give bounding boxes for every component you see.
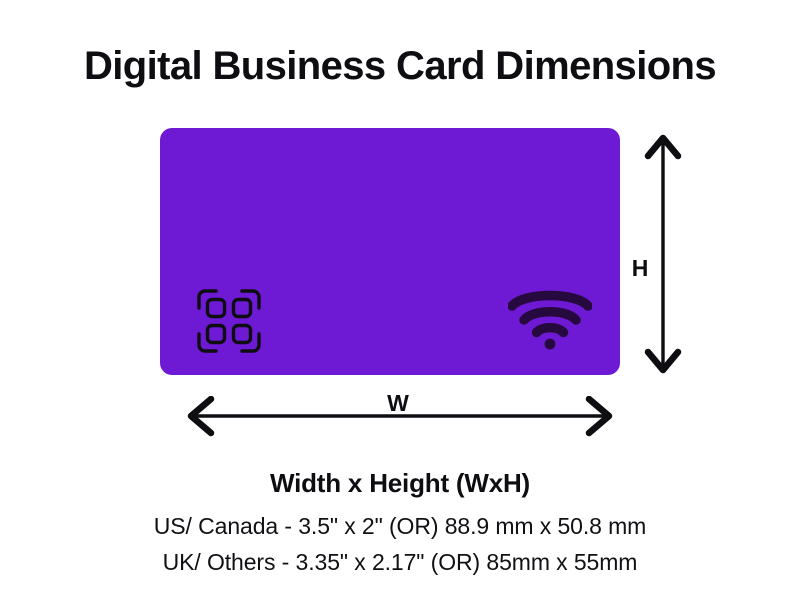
qr-code-icon: [196, 288, 262, 354]
wifi-nfc-icon: [508, 280, 592, 350]
caption-heading: Width x Height (WxH): [0, 466, 800, 500]
width-dimension-label: W: [370, 390, 426, 416]
business-card-shape: [160, 128, 620, 375]
caption-block: Width x Height (WxH) US/ Canada - 3.5" x…: [0, 466, 800, 580]
infographic-canvas: Digital Business Card Dimensions: [0, 0, 800, 600]
caption-line-us-canada: US/ Canada - 3.5" x 2" (OR) 88.9 mm x 50…: [0, 508, 800, 544]
page-title: Digital Business Card Dimensions: [0, 44, 800, 89]
height-dimension-label: H: [626, 255, 654, 281]
height-dimension-arrow: [624, 130, 704, 378]
caption-line-uk-others: UK/ Others - 3.35" x 2.17" (OR) 85mm x 5…: [0, 544, 800, 580]
